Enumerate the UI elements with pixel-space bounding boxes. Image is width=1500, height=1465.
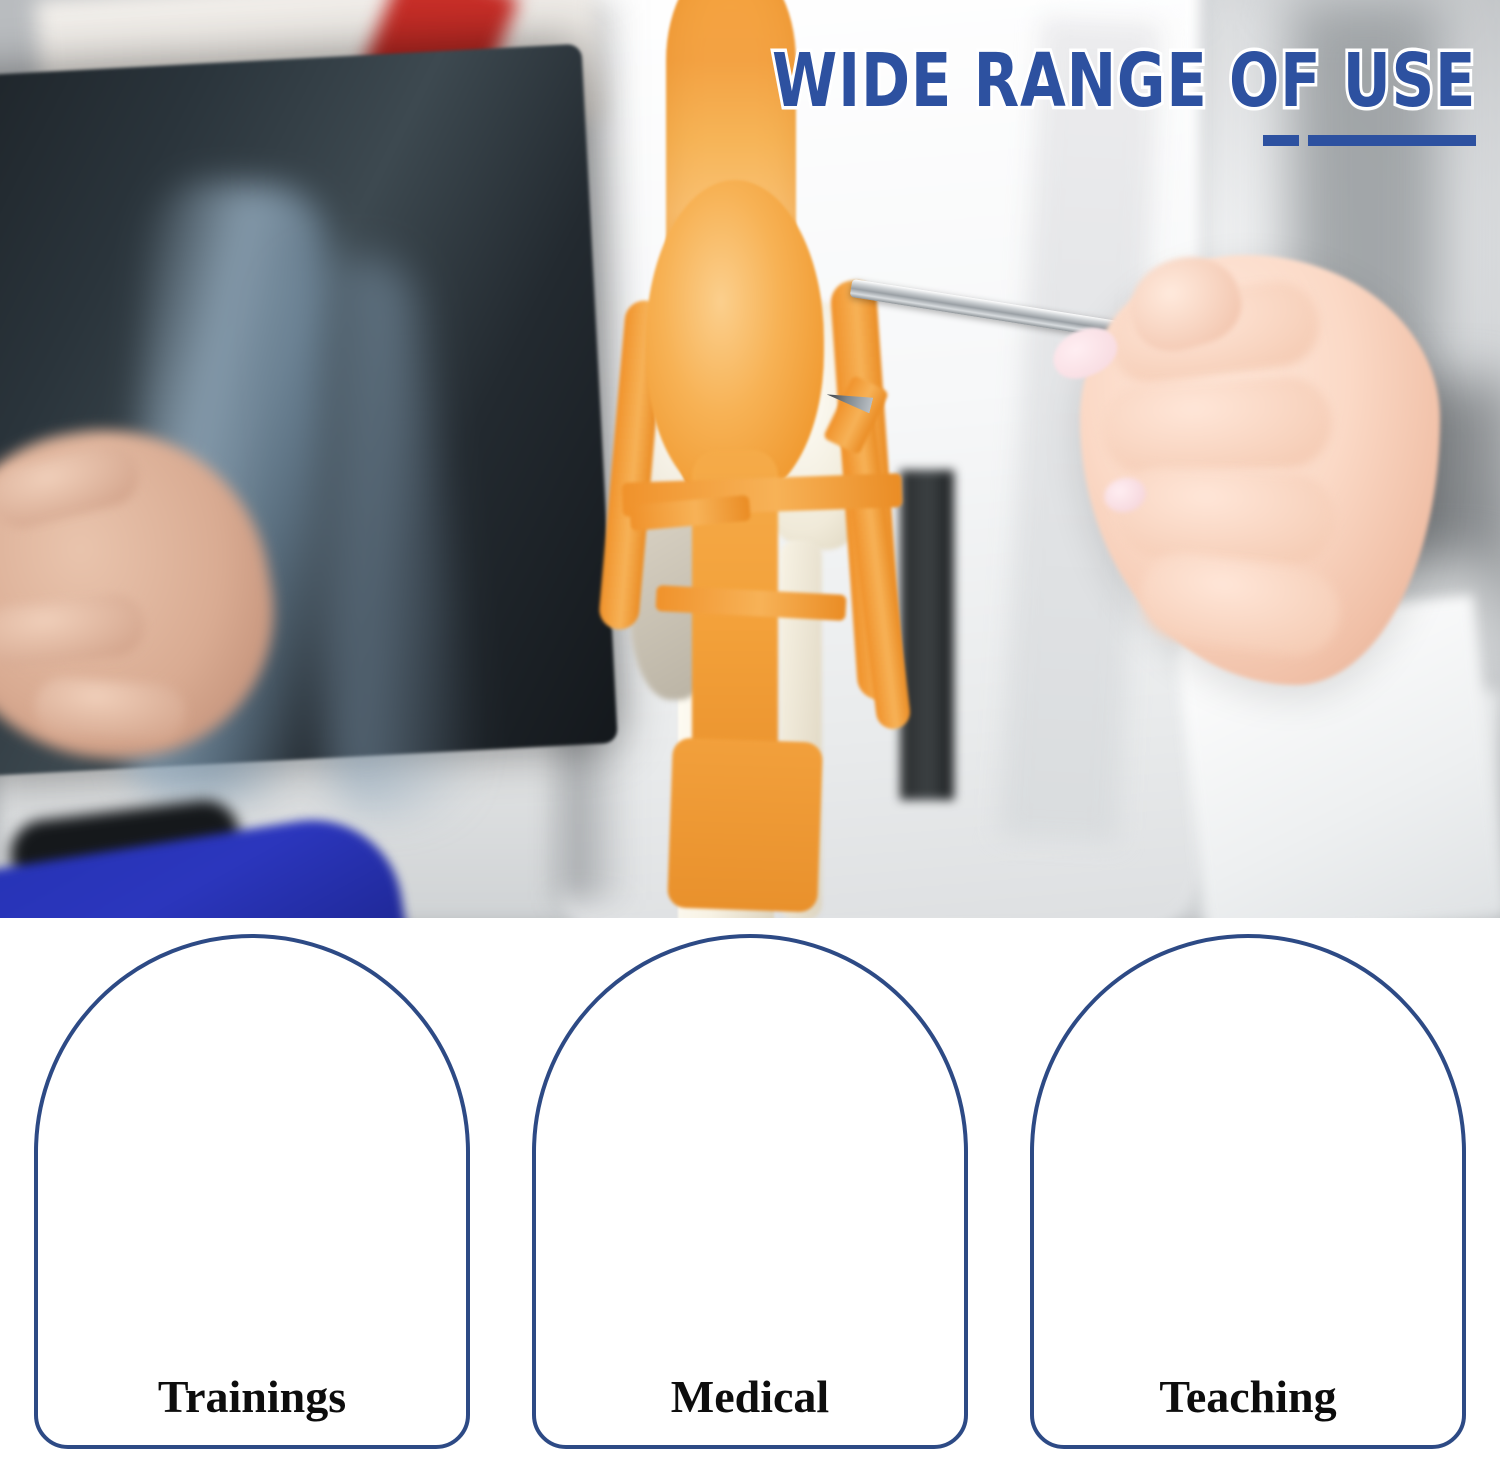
underline-dash [1263,135,1299,146]
finger [1114,464,1339,567]
headline-block: WIDE RANGE OF USE [596,44,1476,146]
finger [33,675,187,743]
underline-bar [1308,135,1476,146]
headline-underline [596,135,1476,146]
ligament-base [667,737,823,912]
use-case-card-row: Trainings [0,918,1500,1465]
hero-photo: WIDE RANGE OF USE [0,0,1500,918]
use-case-card-teaching[interactable]: Teaching [1030,934,1466,1449]
card-label-teaching: Teaching [1030,1370,1466,1423]
use-case-card-medical[interactable]: Medical [532,934,968,1449]
product-marketing-image: WIDE RANGE OF USE [0,0,1500,1465]
card-label-medical: Medical [532,1370,968,1423]
finger [1100,374,1334,478]
use-case-card-trainings[interactable]: Trainings [34,934,470,1449]
card-label-trainings: Trainings [34,1370,470,1423]
headline-text: WIDE RANGE OF USE [772,44,1476,118]
